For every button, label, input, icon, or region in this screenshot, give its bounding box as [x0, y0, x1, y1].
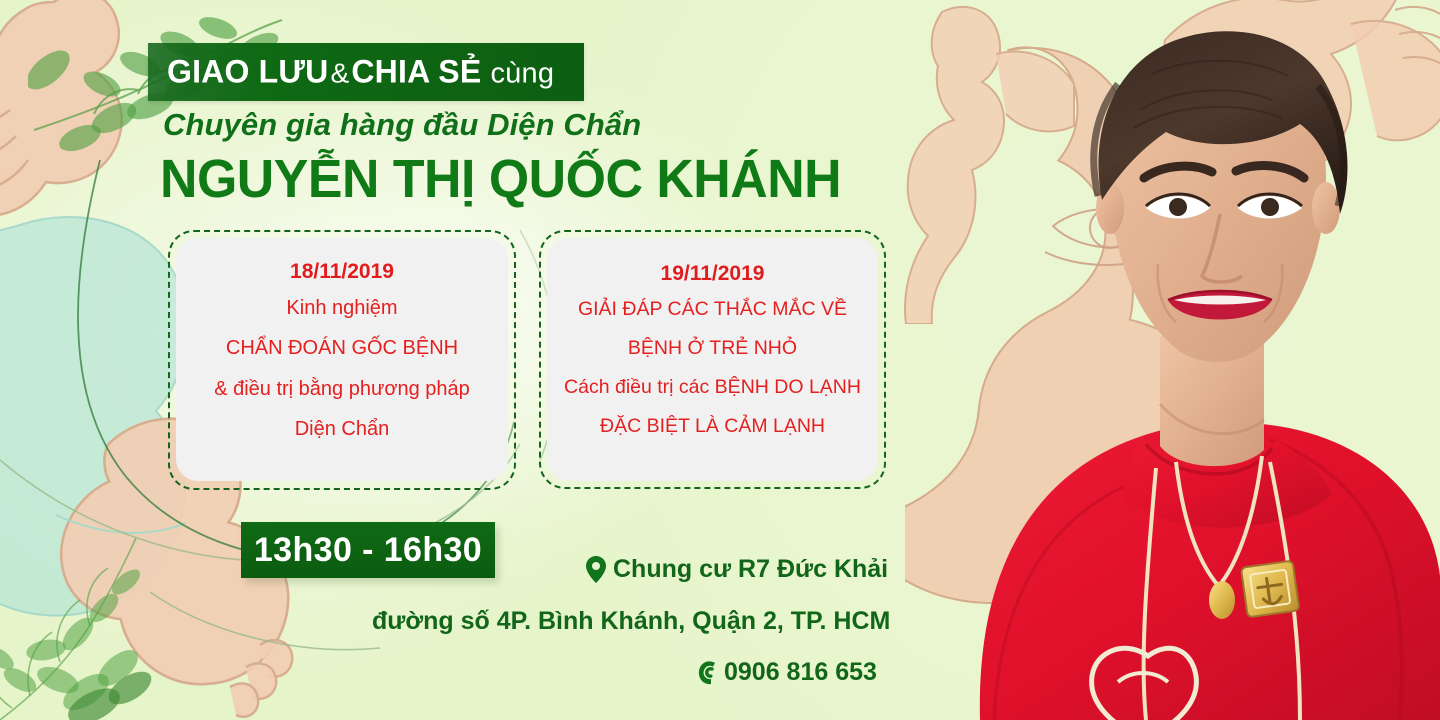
session-line: ĐẶC BIỆT LÀ CẢM LẠNH [547, 416, 878, 438]
venue-line: Chung cư R7 Đức Khải [586, 555, 888, 584]
street-address-line: đường số 4P. Bình Khánh, Quận 2, TP. HCM [372, 607, 890, 636]
session-card-day2: 19/11/2019 GIẢI ĐÁP CÁC THẮC MẮC VỀ BỆNH… [539, 230, 886, 489]
location-pin-icon [586, 556, 606, 583]
session-line: Cách điều trị các BỆNH DO LẠNH [547, 377, 878, 399]
session-line: Kinh nghiệm [176, 297, 508, 319]
phone-text: 0906 816 653 [724, 658, 877, 687]
banner-part-1: GIAO LƯU [167, 54, 328, 90]
poster-banner: GIAO LƯU&CHIA SẺ cùng Chuyên gia hàng đầ… [0, 0, 1440, 720]
session-line: BỆNH Ở TRẺ NHỎ [547, 338, 878, 360]
session-card-day2-panel: 19/11/2019 GIẢI ĐÁP CÁC THẮC MẮC VỀ BỆNH… [547, 238, 878, 481]
session-date: 19/11/2019 [547, 262, 878, 285]
banner-trailing-word: cùng [490, 58, 554, 90]
session-line: Diện Chẩn [176, 418, 508, 440]
venue-text: Chung cư R7 Đức Khải [613, 555, 888, 584]
speaker-portrait-photo [970, 0, 1440, 720]
speaker-name: NGUYỄN THỊ QUỐC KHÁNH [160, 148, 841, 210]
session-card-day1: 18/11/2019 Kinh nghiệm CHẨN ĐOÁN GỐC BỆN… [168, 230, 516, 490]
banner-ampersand: & [328, 58, 351, 89]
phone-handset-icon [697, 660, 719, 686]
phone-line[interactable]: 0906 816 653 [697, 658, 877, 687]
session-card-day1-panel: 18/11/2019 Kinh nghiệm CHẨN ĐOÁN GỐC BỆN… [176, 238, 508, 481]
speaker-subtitle: Chuyên gia hàng đầu Diện Chẩn [163, 107, 641, 143]
session-line: & điều trị bằng phương pháp [176, 378, 508, 400]
event-time-badge: 13h30 - 16h30 [241, 522, 495, 578]
session-line: GIẢI ĐÁP CÁC THẮC MẮC VỀ [547, 299, 878, 321]
session-line: CHẨN ĐOÁN GỐC BỆNH [176, 337, 508, 359]
event-time-label: 13h30 - 16h30 [254, 531, 482, 570]
street-text: đường số 4P. Bình Khánh, Quận 2, TP. HCM [372, 607, 890, 636]
banner-headline: GIAO LƯU&CHIA SẺ cùng [167, 54, 554, 91]
banner-part-2: CHIA SẺ [351, 54, 481, 90]
session-date: 18/11/2019 [176, 260, 508, 283]
event-banner-strip: GIAO LƯU&CHIA SẺ cùng [148, 43, 584, 101]
